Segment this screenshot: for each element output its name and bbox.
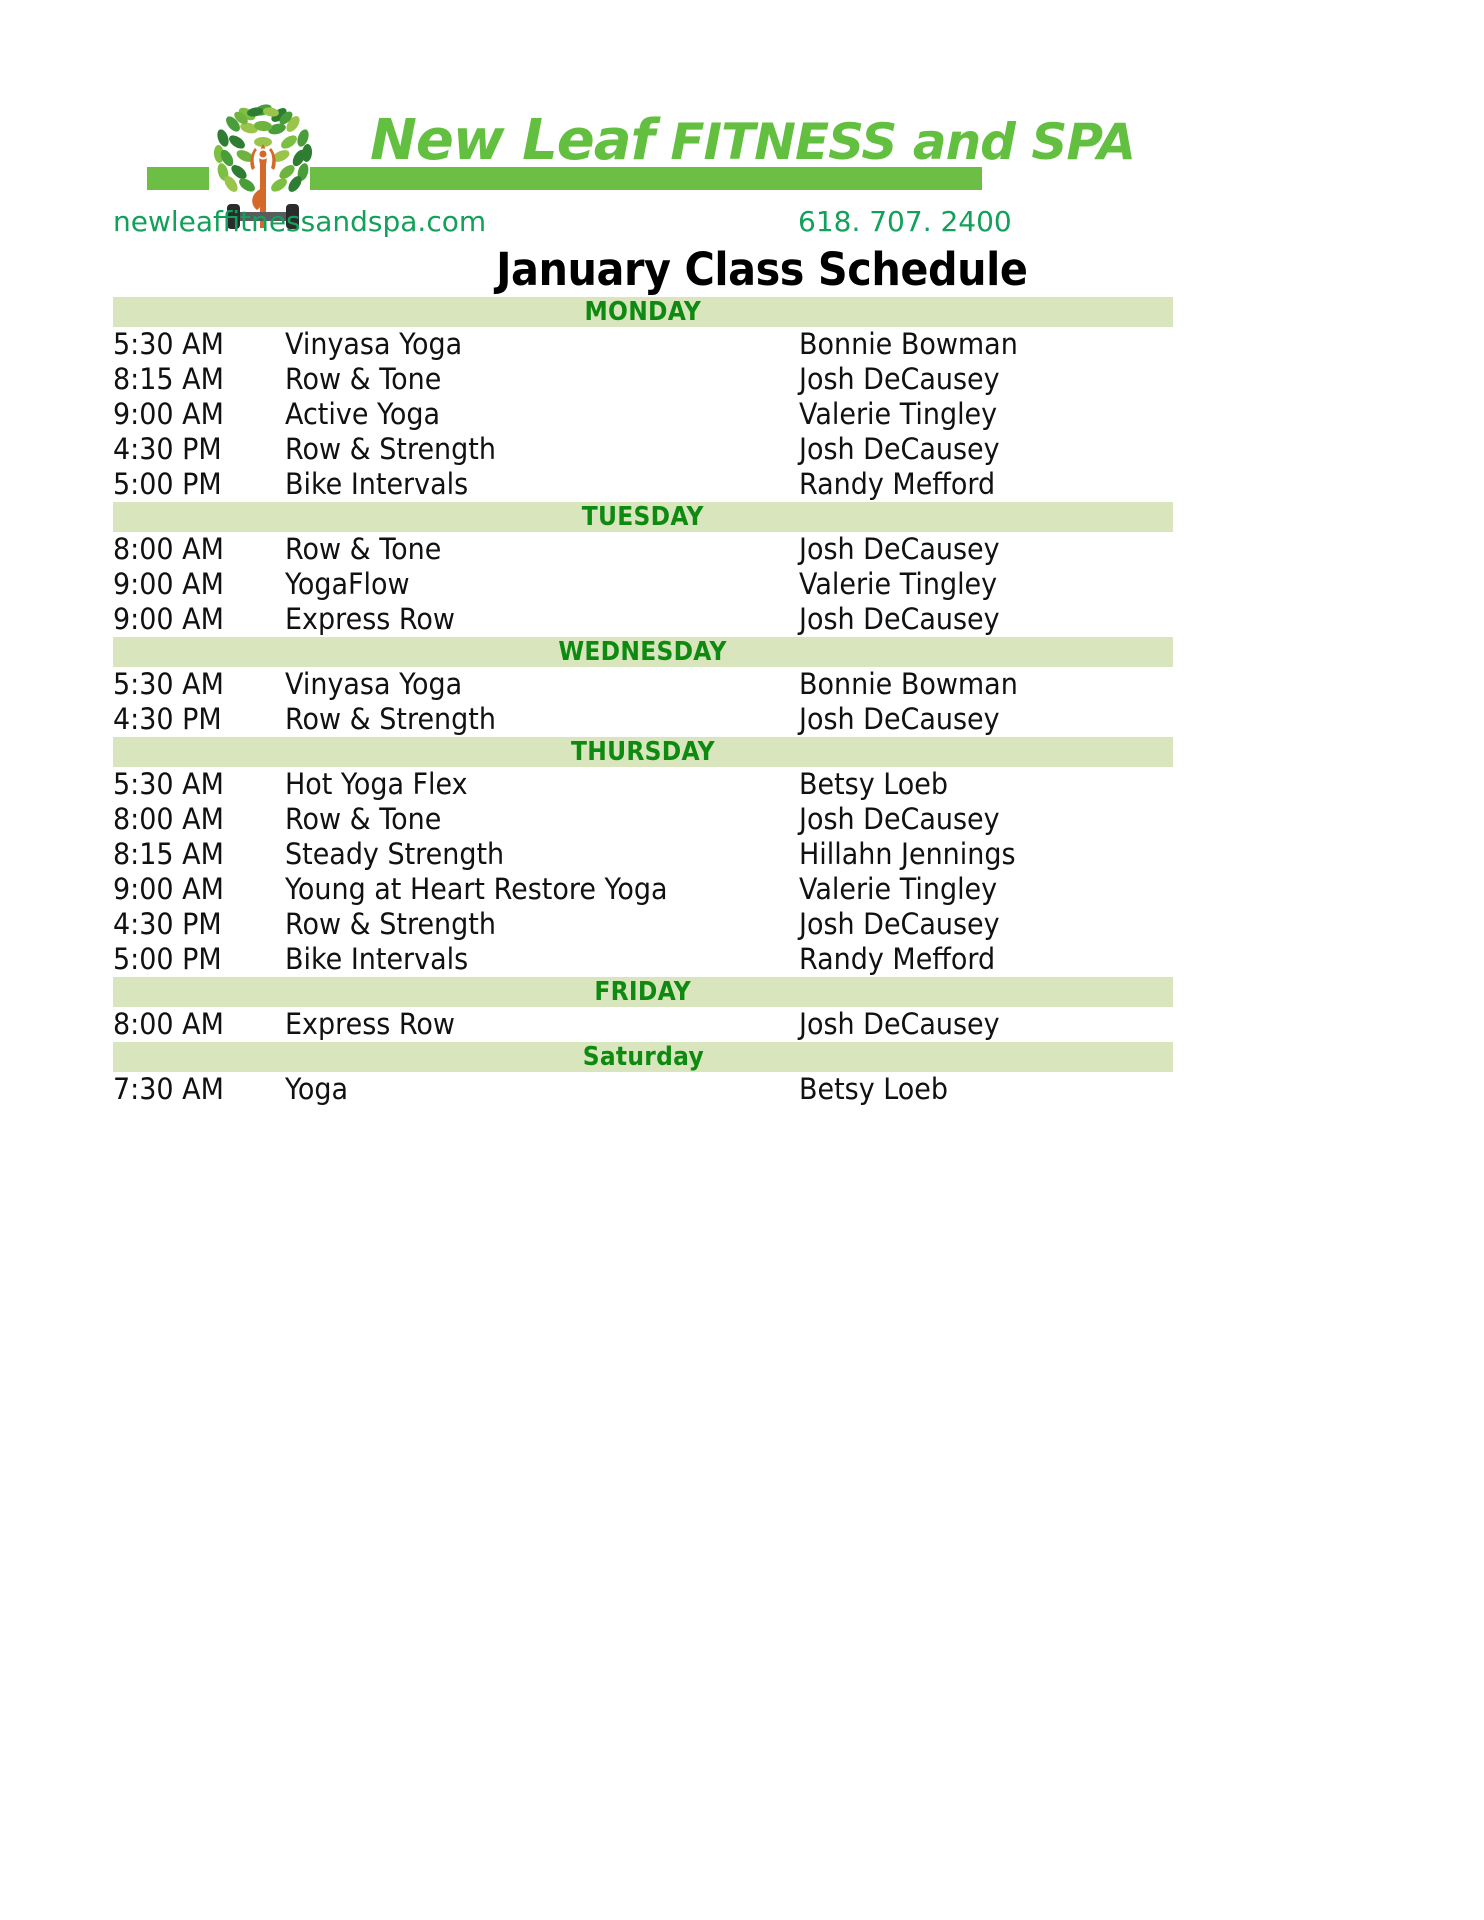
class-instructor: Hillahn Jennings <box>799 837 1173 871</box>
class-instructor: Valerie Tingley <box>799 397 1173 431</box>
class-time-text: 5:30 AM <box>113 667 224 701</box>
day-header-saturday: Saturday <box>113 1042 1173 1072</box>
class-row: 8:15 AMSteady StrengthHillahn Jennings <box>113 837 1173 872</box>
class-time: 5:00 PM <box>113 467 285 501</box>
class-instructor: Betsy Loeb <box>799 767 1173 801</box>
class-name: Yoga <box>285 1072 799 1106</box>
class-time: 5:30 AM <box>113 667 285 701</box>
letterhead: New Leaf FITNESS and SPA newleaffitnessa… <box>0 0 1484 210</box>
page-title: January Class Schedule <box>0 243 1484 296</box>
class-name: Vinyasa Yoga <box>285 327 799 361</box>
class-time-text: 8:00 AM <box>113 532 224 566</box>
class-row: 5:00 PMBike IntervalsRandy Mefford <box>113 467 1173 502</box>
schedule-table: MONDAY5:30 AMVinyasa YogaBonnie Bowman8:… <box>113 297 1173 1107</box>
class-name-text: Express Row <box>285 602 455 636</box>
class-instructor-text: Hillahn Jennings <box>799 837 1016 871</box>
class-time-text: 5:30 AM <box>113 767 224 801</box>
class-time-text: 5:00 PM <box>113 942 222 976</box>
class-name-text: Express Row <box>285 1007 455 1041</box>
class-instructor-text: Josh DeCausey <box>799 532 1000 566</box>
class-instructor: Josh DeCausey <box>799 432 1173 466</box>
class-row: 7:30 AMYogaBetsy Loeb <box>113 1072 1173 1107</box>
class-name: Bike Intervals <box>285 467 799 501</box>
website-link[interactable]: newleaffitnessandspa.com <box>113 205 486 238</box>
class-time: 9:00 AM <box>113 602 285 636</box>
brand-name-caps: FITNESS and SPA <box>654 113 1135 171</box>
class-instructor: Valerie Tingley <box>799 872 1173 906</box>
class-instructor: Josh DeCausey <box>799 362 1173 396</box>
day-header-label: TUESDAY <box>582 502 704 532</box>
day-header-label: WEDNESDAY <box>559 637 727 667</box>
class-time-text: 9:00 AM <box>113 397 224 431</box>
day-header-tuesday: TUESDAY <box>113 502 1173 532</box>
class-time-text: 7:30 AM <box>113 1072 224 1106</box>
class-instructor: Josh DeCausey <box>799 907 1173 941</box>
day-header-label: Saturday <box>582 1042 703 1072</box>
class-row: 4:30 PMRow & StrengthJosh DeCausey <box>113 432 1173 467</box>
class-time-text: 8:00 AM <box>113 1007 224 1041</box>
class-instructor-text: Josh DeCausey <box>799 602 1000 636</box>
class-name: Hot Yoga Flex <box>285 767 799 801</box>
class-row: 9:00 AMExpress RowJosh DeCausey <box>113 602 1173 637</box>
class-name: Steady Strength <box>285 837 799 871</box>
class-instructor: Bonnie Bowman <box>799 327 1173 361</box>
class-name: Active Yoga <box>285 397 799 431</box>
day-header-thursday: THURSDAY <box>113 737 1173 767</box>
class-instructor-text: Valerie Tingley <box>799 567 997 601</box>
class-name: Row & Strength <box>285 432 799 466</box>
class-row: 9:00 AMActive YogaValerie Tingley <box>113 397 1173 432</box>
class-row: 5:30 AMHot Yoga FlexBetsy Loeb <box>113 767 1173 802</box>
page-title-text: January Class Schedule <box>496 243 1027 296</box>
day-header-friday: FRIDAY <box>113 977 1173 1007</box>
class-time: 4:30 PM <box>113 432 285 466</box>
class-time-text: 9:00 AM <box>113 872 224 906</box>
day-header-wednesday: WEDNESDAY <box>113 637 1173 667</box>
class-instructor-text: Josh DeCausey <box>799 907 1000 941</box>
class-time-text: 8:15 AM <box>113 837 224 871</box>
class-row: 5:30 AMVinyasa YogaBonnie Bowman <box>113 667 1173 702</box>
class-time: 9:00 AM <box>113 872 285 906</box>
accent-rule-left <box>147 167 209 190</box>
class-time-text: 4:30 PM <box>113 432 222 466</box>
class-instructor-text: Josh DeCausey <box>799 362 1000 396</box>
phone-number[interactable]: 618. 707. 2400 <box>798 205 1012 238</box>
class-name-text: Steady Strength <box>285 837 504 871</box>
class-instructor-text: Randy Mefford <box>799 942 995 976</box>
day-header-label: FRIDAY <box>595 977 692 1007</box>
class-row: 9:00 AMYogaFlowValerie Tingley <box>113 567 1173 602</box>
class-name: YogaFlow <box>285 567 799 601</box>
class-instructor: Randy Mefford <box>799 942 1173 976</box>
class-time-text: 4:30 PM <box>113 702 222 736</box>
class-name: Express Row <box>285 1007 799 1041</box>
class-name-text: Vinyasa Yoga <box>285 327 462 361</box>
class-instructor-text: Josh DeCausey <box>799 802 1000 836</box>
class-row: 4:30 PMRow & StrengthJosh DeCausey <box>113 907 1173 942</box>
brand-name: New Leaf FITNESS and SPA <box>370 108 1135 173</box>
day-header-monday: MONDAY <box>113 297 1173 327</box>
class-instructor-text: Randy Mefford <box>799 467 995 501</box>
brand-name-script: New Leaf <box>370 108 654 173</box>
class-row: 4:30 PMRow & StrengthJosh DeCausey <box>113 702 1173 737</box>
class-name: Vinyasa Yoga <box>285 667 799 701</box>
class-instructor: Josh DeCausey <box>799 602 1173 636</box>
accent-rule-right <box>310 167 982 190</box>
class-time: 4:30 PM <box>113 907 285 941</box>
class-instructor-text: Betsy Loeb <box>799 767 948 801</box>
class-row: 9:00 AMYoung at Heart Restore YogaValeri… <box>113 872 1173 907</box>
class-name: Row & Tone <box>285 802 799 836</box>
class-instructor-text: Josh DeCausey <box>799 1007 1000 1041</box>
class-time: 9:00 AM <box>113 567 285 601</box>
class-name-text: Row & Strength <box>285 702 496 736</box>
class-time: 9:00 AM <box>113 397 285 431</box>
class-instructor-text: Josh DeCausey <box>799 702 1000 736</box>
class-instructor: Bonnie Bowman <box>799 667 1173 701</box>
class-name-text: Young at Heart Restore Yoga <box>285 872 668 906</box>
class-instructor-text: Bonnie Bowman <box>799 667 1018 701</box>
class-time: 5:00 PM <box>113 942 285 976</box>
class-time-text: 5:00 PM <box>113 467 222 501</box>
class-instructor: Randy Mefford <box>799 467 1173 501</box>
class-time: 8:00 AM <box>113 532 285 566</box>
class-row: 8:00 AMRow & ToneJosh DeCausey <box>113 802 1173 837</box>
class-name-text: Vinyasa Yoga <box>285 667 462 701</box>
class-instructor: Josh DeCausey <box>799 532 1173 566</box>
class-name-text: Row & Strength <box>285 432 496 466</box>
class-name-text: Row & Tone <box>285 532 441 566</box>
class-row: 8:00 AMExpress RowJosh DeCausey <box>113 1007 1173 1042</box>
class-name-text: Bike Intervals <box>285 942 468 976</box>
class-name: Row & Strength <box>285 702 799 736</box>
class-name: Row & Tone <box>285 532 799 566</box>
class-name-text: Row & Strength <box>285 907 496 941</box>
class-row: 8:15 AMRow & ToneJosh DeCausey <box>113 362 1173 397</box>
class-name-text: Row & Tone <box>285 362 441 396</box>
class-name-text: YogaFlow <box>285 567 410 601</box>
class-instructor-text: Valerie Tingley <box>799 872 997 906</box>
class-instructor: Josh DeCausey <box>799 802 1173 836</box>
day-header-label: THURSDAY <box>571 737 715 767</box>
class-time-text: 8:00 AM <box>113 802 224 836</box>
class-time-text: 5:30 AM <box>113 327 224 361</box>
class-name: Row & Tone <box>285 362 799 396</box>
class-name: Express Row <box>285 602 799 636</box>
class-time: 5:30 AM <box>113 767 285 801</box>
class-time: 8:15 AM <box>113 362 285 396</box>
class-name-text: Yoga <box>285 1072 348 1106</box>
class-name-text: Row & Tone <box>285 802 441 836</box>
class-instructor: Betsy Loeb <box>799 1072 1173 1106</box>
class-time-text: 8:15 AM <box>113 362 224 396</box>
class-instructor-text: Betsy Loeb <box>799 1072 948 1106</box>
class-instructor-text: Bonnie Bowman <box>799 327 1018 361</box>
class-time: 8:00 AM <box>113 1007 285 1041</box>
day-header-label: MONDAY <box>585 297 702 327</box>
class-time: 5:30 AM <box>113 327 285 361</box>
class-instructor-text: Valerie Tingley <box>799 397 997 431</box>
class-time: 4:30 PM <box>113 702 285 736</box>
class-row: 5:30 AMVinyasa YogaBonnie Bowman <box>113 327 1173 362</box>
class-instructor: Josh DeCausey <box>799 702 1173 736</box>
class-time: 8:15 AM <box>113 837 285 871</box>
class-instructor: Josh DeCausey <box>799 1007 1173 1041</box>
class-row: 8:00 AMRow & ToneJosh DeCausey <box>113 532 1173 567</box>
class-name: Row & Strength <box>285 907 799 941</box>
class-schedule-page: New Leaf FITNESS and SPA newleaffitnessa… <box>0 0 1484 1920</box>
class-name-text: Active Yoga <box>285 397 440 431</box>
class-time-text: 4:30 PM <box>113 907 222 941</box>
class-time-text: 9:00 AM <box>113 567 224 601</box>
class-name: Young at Heart Restore Yoga <box>285 872 799 906</box>
class-time-text: 9:00 AM <box>113 602 224 636</box>
class-time: 7:30 AM <box>113 1072 285 1106</box>
class-name: Bike Intervals <box>285 942 799 976</box>
class-instructor-text: Josh DeCausey <box>799 432 1000 466</box>
contact-row: newleaffitnessandspa.com 618. 707. 2400 <box>0 205 1484 245</box>
class-name-text: Hot Yoga Flex <box>285 767 468 801</box>
class-name-text: Bike Intervals <box>285 467 468 501</box>
class-row: 5:00 PMBike IntervalsRandy Mefford <box>113 942 1173 977</box>
class-instructor: Valerie Tingley <box>799 567 1173 601</box>
class-time: 8:00 AM <box>113 802 285 836</box>
